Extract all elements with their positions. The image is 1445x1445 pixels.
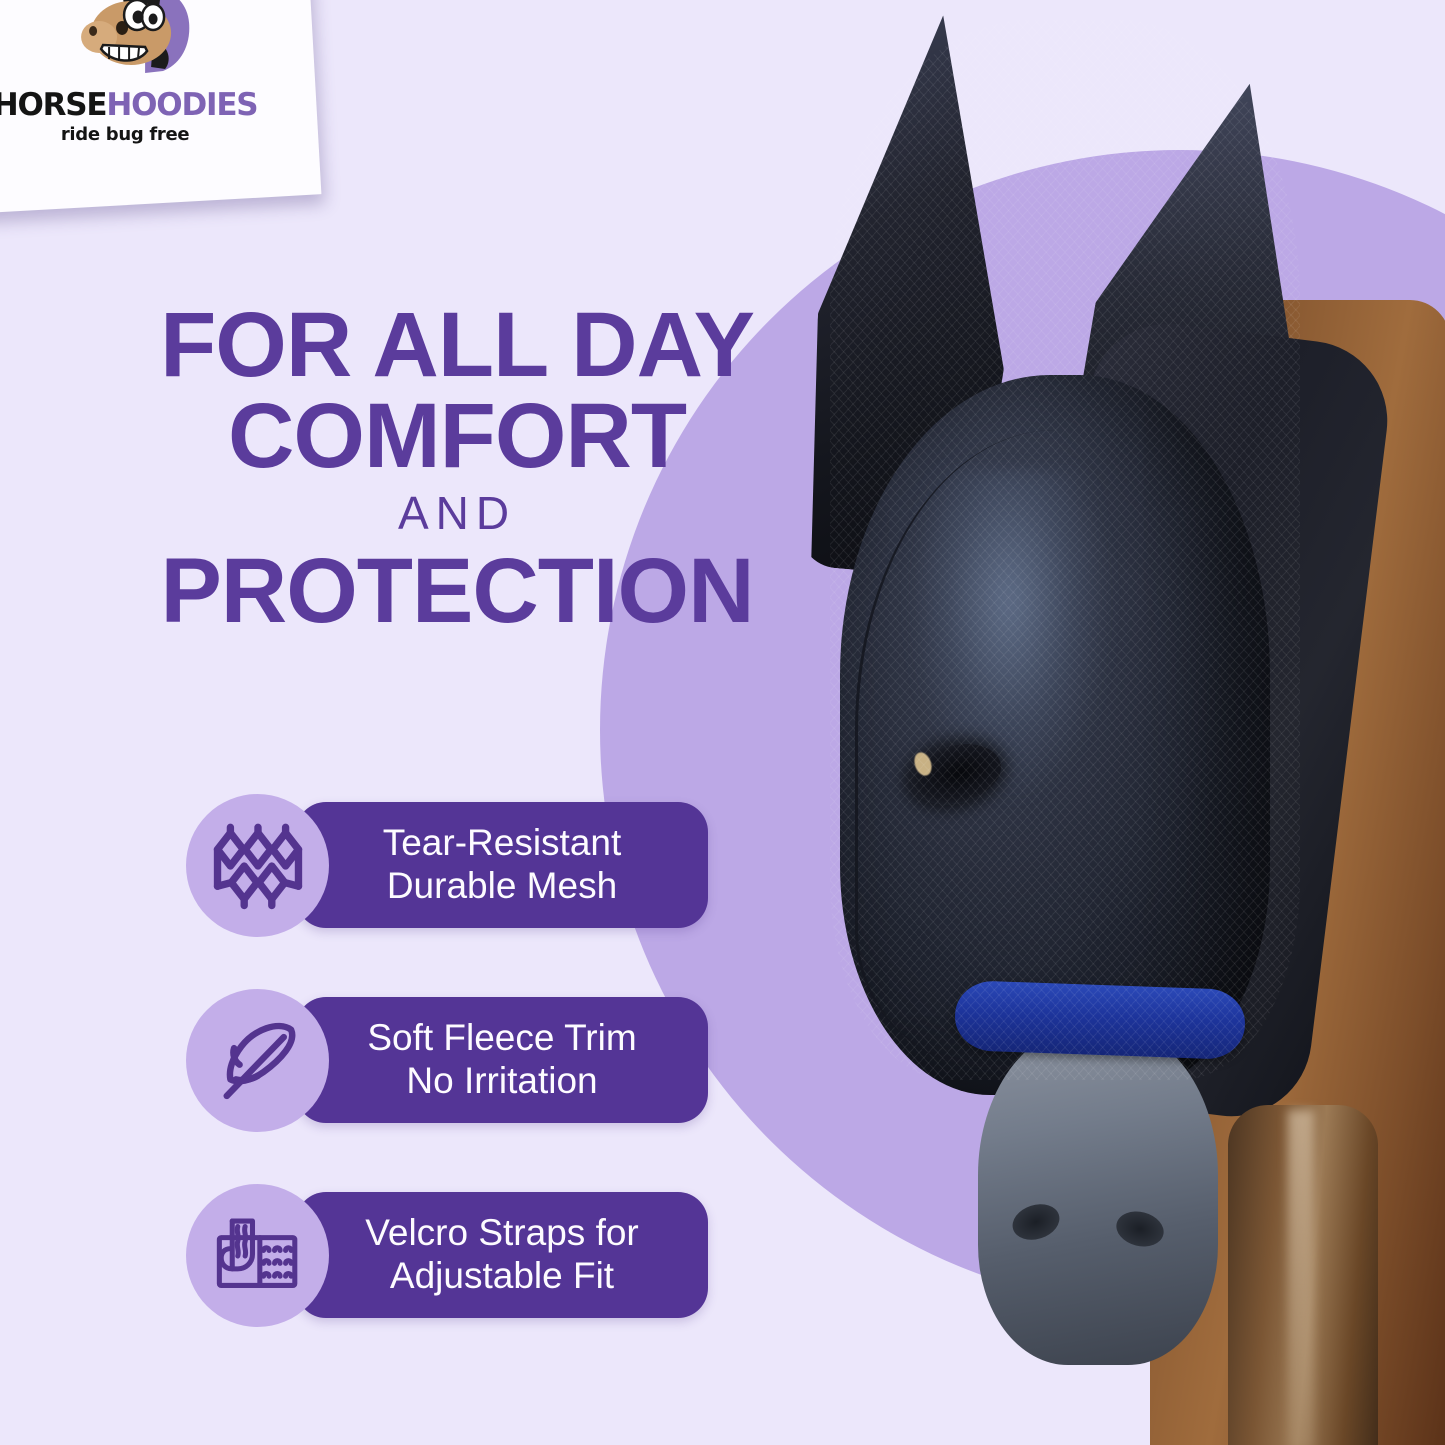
feather-icon [212,1015,304,1107]
donkey-muzzle [978,1025,1218,1365]
brand-logo-banner: HORSEHOODIES ride bug free [0,0,321,213]
feature-item-velcro: Velcro Straps for Adjustable Fit [186,1184,726,1324]
headline-block: FOR ALL DAY COMFORT AND PROTECTION [62,300,852,637]
mesh-lattice-icon [212,820,304,912]
logo-wordmark: HORSEHOODIES [0,87,257,123]
feature-mesh-line-2: Durable Mesh [387,865,617,906]
headline-line-2: COMFORT [62,391,852,482]
feature-item-mesh: Tear-Resistant Durable Mesh [186,794,726,934]
horse-head-with-hood-icon [75,0,203,93]
fly-mask-blue-fleece-trim [954,980,1246,1060]
donkey-leg-highlight [1288,1110,1314,1445]
feature-list: Tear-Resistant Durable Mesh [186,794,726,1379]
feature-fleece-line-2: No Irritation [406,1060,597,1101]
feature-pill-velcro-text: Velcro Straps for Adjustable Fit [351,1212,653,1298]
promo-image-canvas: HORSEHOODIES ride bug free FOR ALL DAY C… [0,0,1445,1445]
feature-pill-mesh-text: Tear-Resistant Durable Mesh [369,822,636,908]
velcro-strap-icon [212,1210,304,1302]
feature-fleece-line-1: Soft Fleece Trim [367,1017,636,1058]
feature-pill-velcro[interactable]: Velcro Straps for Adjustable Fit [296,1192,708,1318]
feature-pill-fleece-text: Soft Fleece Trim No Irritation [353,1017,650,1103]
logo-word-hoodies: HOODIES [106,87,257,123]
feature-velcro-line-1: Velcro Straps for [365,1212,639,1253]
feature-icon-circle-mesh [186,794,329,937]
feature-mesh-line-1: Tear-Resistant [383,822,622,863]
feature-item-fleece: Soft Fleece Trim No Irritation [186,989,726,1129]
logo-word-horse: HORSE [0,87,106,123]
feature-icon-circle-fleece [186,989,329,1132]
logo-tagline: ride bug free [61,124,189,145]
donkey-fly-mask-photo [760,0,1445,1445]
headline-connector: AND [62,482,852,544]
feature-velcro-line-2: Adjustable Fit [390,1255,614,1296]
feature-icon-circle-velcro [186,1184,329,1327]
feature-pill-mesh[interactable]: Tear-Resistant Durable Mesh [296,802,708,928]
headline-line-3: PROTECTION [62,546,852,637]
feature-pill-fleece[interactable]: Soft Fleece Trim No Irritation [296,997,708,1123]
headline-line-1: FOR ALL DAY [62,300,852,391]
